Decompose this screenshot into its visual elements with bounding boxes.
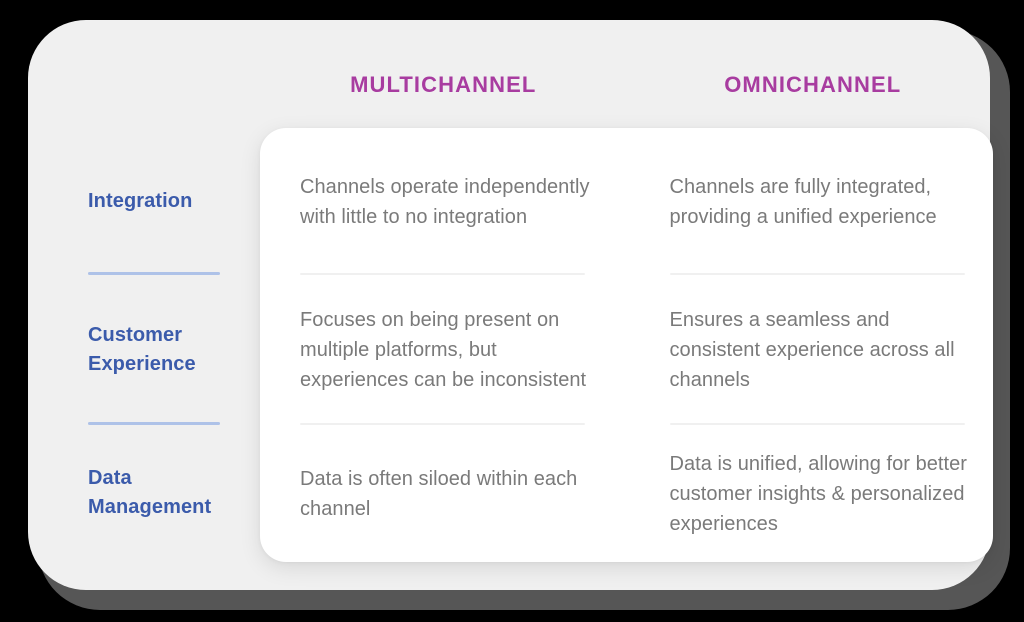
cell-integration-omnichannel: Channels are fully integrated, providing… [627, 128, 994, 275]
column-header-row: MULTICHANNEL OMNICHANNEL [260, 68, 993, 110]
cell-text: Focuses on being present on multiple pla… [300, 305, 603, 395]
comparison-infographic: MULTICHANNEL OMNICHANNEL Integration Cus… [0, 0, 1024, 622]
cell-integration-multichannel: Channels operate independently with litt… [260, 128, 627, 275]
cell-customer-experience-multichannel: Focuses on being present on multiple pla… [260, 275, 627, 425]
row-label-text: Data Management [88, 464, 253, 522]
cell-customer-experience-omnichannel: Ensures a seamless and consistent experi… [627, 275, 994, 425]
cell-data-management-omnichannel: Data is unified, allowing for better cus… [627, 425, 994, 562]
comparison-panel: MULTICHANNEL OMNICHANNEL Integration Cus… [28, 20, 990, 590]
row-label-text: Integration [88, 187, 253, 216]
table-row: Focuses on being present on multiple pla… [260, 275, 993, 425]
comparison-content-card: Channels operate independently with litt… [260, 128, 993, 562]
column-header-omnichannel: OMNICHANNEL [627, 68, 994, 110]
row-label-integration: Integration [88, 128, 260, 275]
cell-text: Data is often siloed within each channel [300, 464, 603, 524]
cell-text: Channels operate independently with litt… [300, 172, 603, 232]
cell-text: Data is unified, allowing for better cus… [670, 449, 970, 539]
column-header-multichannel: MULTICHANNEL [260, 68, 627, 110]
row-label-text: Customer Experience [88, 321, 253, 379]
table-row: Data is often siloed within each channel… [260, 425, 993, 562]
cell-text: Channels are fully integrated, providing… [670, 172, 970, 232]
row-label-sidebar: Integration Customer Experience Data Man… [88, 128, 260, 560]
table-row: Channels operate independently with litt… [260, 128, 993, 275]
row-label-customer-experience: Customer Experience [88, 275, 260, 425]
row-label-data-management: Data Management [88, 425, 260, 560]
cell-data-management-multichannel: Data is often siloed within each channel [260, 425, 627, 562]
cell-text: Ensures a seamless and consistent experi… [670, 305, 970, 395]
